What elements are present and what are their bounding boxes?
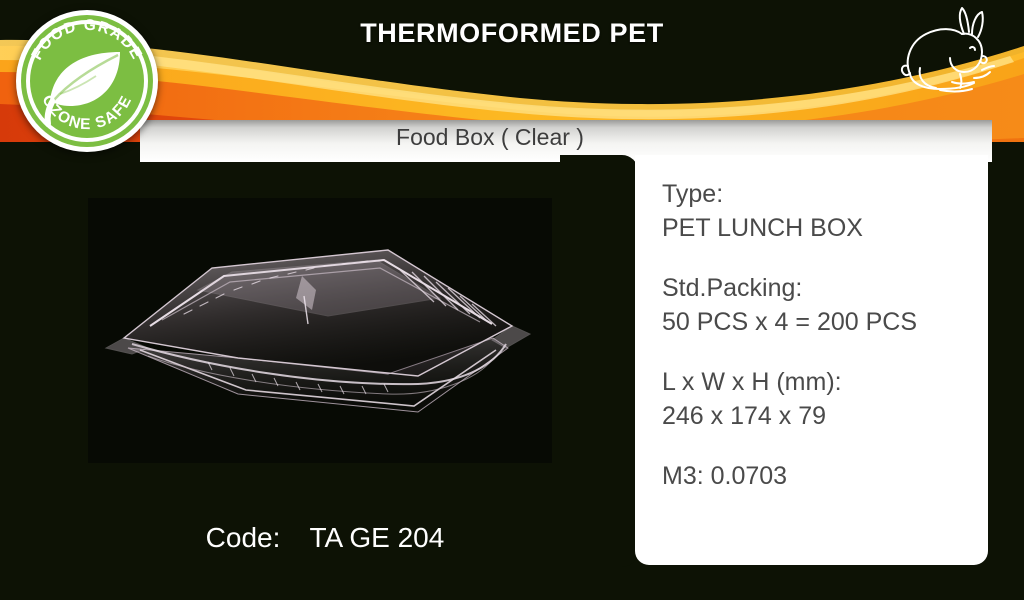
spec-dimensions-label: L x W x H (mm): — [662, 365, 974, 399]
rabbit-icon — [896, 4, 1000, 100]
specifications-panel: Type: PET LUNCH BOX Std.Packing: 50 PCS … — [635, 155, 988, 565]
spec-volume: M3: 0.0703 — [662, 459, 974, 493]
rabbit-logo — [896, 4, 1000, 100]
code-value: TA GE 204 — [309, 522, 444, 553]
product-image — [88, 198, 552, 463]
spec-packing: Std.Packing: 50 PCS x 4 = 200 PCS — [662, 271, 974, 339]
food-grade-ozone-safe-badge: FOOD GRADE OZONE SAFE — [14, 8, 160, 154]
clear-pet-lunch-box-illustration — [88, 198, 552, 463]
spec-type-label: Type: — [662, 177, 974, 211]
spec-dimensions: L x W x H (mm): 246 x 174 x 79 — [662, 365, 974, 433]
spec-packing-label: Std.Packing: — [662, 271, 974, 305]
product-subtitle: Food Box ( Clear ) — [140, 124, 840, 151]
spec-packing-value: 50 PCS x 4 = 200 PCS — [662, 305, 974, 339]
product-catalog-card: Food Box ( Clear ) THERMOFORMED PET FOOD… — [0, 0, 1024, 600]
spec-type: Type: PET LUNCH BOX — [662, 177, 974, 245]
panel-notch — [560, 155, 638, 567]
badge-graphic: FOOD GRADE OZONE SAFE — [14, 8, 160, 154]
spec-volume-label: M3: 0.0703 — [662, 459, 974, 493]
code-label: Code: — [206, 522, 281, 553]
spec-dimensions-value: 246 x 174 x 79 — [662, 399, 974, 433]
product-code: Code: TA GE 204 — [90, 522, 560, 554]
spec-type-value: PET LUNCH BOX — [662, 211, 974, 245]
